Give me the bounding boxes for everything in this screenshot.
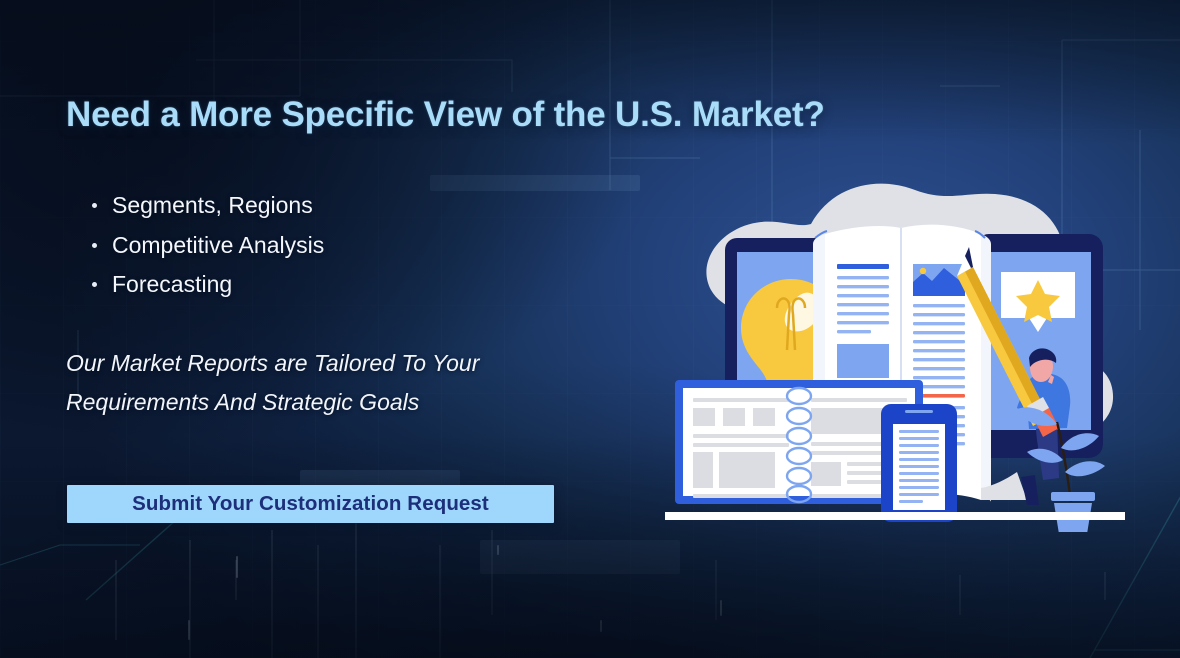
content-column: Need a More Specific View of the U.S. Ma… xyxy=(0,0,660,658)
page-title: Need a More Specific View of the U.S. Ma… xyxy=(66,95,825,135)
feature-list: Segments, Regions Competitive Analysis F… xyxy=(82,186,324,305)
cta-banner: Need a More Specific View of the U.S. Ma… xyxy=(0,0,1180,658)
smartphone xyxy=(881,404,957,522)
bullet-dot-icon xyxy=(92,243,97,248)
list-item-label: Competitive Analysis xyxy=(112,232,324,258)
list-item-label: Forecasting xyxy=(112,271,232,297)
bullet-dot-icon xyxy=(92,282,97,287)
floor-line xyxy=(665,512,1125,520)
list-item: Competitive Analysis xyxy=(112,226,324,266)
market-research-illustration xyxy=(665,172,1135,532)
list-item: Segments, Regions xyxy=(112,186,324,226)
bullet-dot-icon xyxy=(92,203,97,208)
submit-customization-request-button[interactable]: Submit Your Customization Request xyxy=(67,485,554,523)
list-item-label: Segments, Regions xyxy=(112,192,313,218)
tagline-text: Our Market Reports are Tailored To Your … xyxy=(66,344,596,422)
list-item: Forecasting xyxy=(112,265,324,305)
